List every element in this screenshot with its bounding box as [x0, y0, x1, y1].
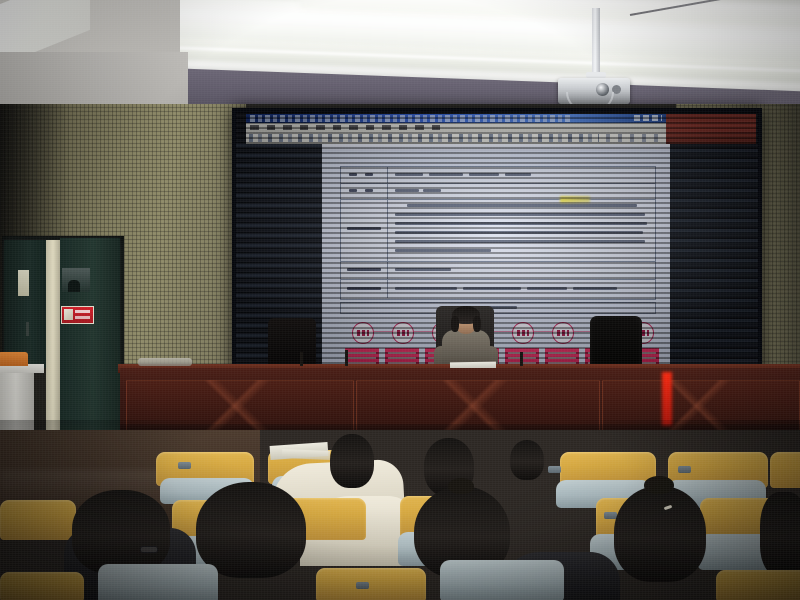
- attendee-ponytail: [644, 476, 674, 494]
- safety-notice-sign: [61, 306, 94, 324]
- orange-object-icon: [0, 352, 28, 366]
- attendee-head: [614, 486, 706, 582]
- empty-chair-right: [590, 316, 642, 368]
- door-window-left: [18, 270, 29, 296]
- podium-indicator-light: [662, 372, 672, 426]
- seat-number-plate: [678, 466, 691, 473]
- seat-cushion[interactable]: [98, 564, 218, 600]
- door-window-right: [62, 268, 90, 292]
- seat-back[interactable]: [770, 452, 800, 488]
- attendee-head: [760, 492, 800, 576]
- microphone-icon: [520, 352, 523, 366]
- attendee-head: [510, 440, 544, 480]
- conference-hall-photo: [0, 0, 800, 600]
- door-handle[interactable]: [26, 322, 29, 336]
- attendee-head: [196, 482, 306, 578]
- attendee-ponytail: [448, 478, 474, 494]
- eyeglasses-icon: [140, 546, 158, 553]
- door-open-gap: [46, 240, 60, 430]
- projector-mount-pole: [592, 8, 600, 78]
- seat-back[interactable]: [0, 500, 76, 540]
- paper-handouts: [282, 449, 330, 460]
- seat-back[interactable]: [0, 572, 84, 600]
- attendee-head: [72, 490, 170, 574]
- desk-equipment: [138, 358, 192, 366]
- seat-cushion[interactable]: [440, 560, 564, 600]
- attendee-head: [330, 434, 374, 488]
- seat-back[interactable]: [316, 568, 426, 600]
- speaker-hair-side-left: [451, 316, 459, 332]
- microphone-icon: [345, 350, 348, 366]
- empty-chair-left: [268, 318, 316, 368]
- seat-number-plate: [178, 462, 191, 469]
- seat-back[interactable]: [716, 570, 800, 600]
- microphone-icon: [300, 352, 303, 366]
- speaker-hair-side-right: [473, 316, 481, 332]
- seat-number-plate: [548, 466, 561, 473]
- seat-number-plate: [356, 582, 369, 589]
